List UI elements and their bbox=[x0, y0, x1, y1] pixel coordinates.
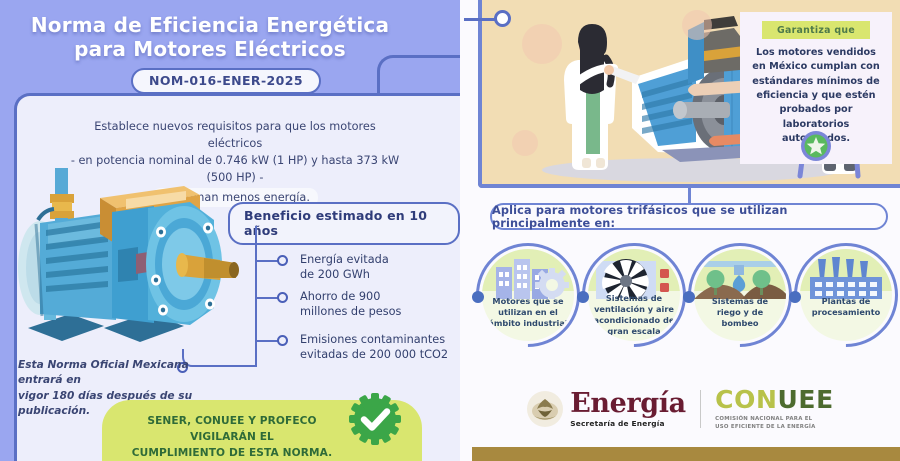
check-badge-icon bbox=[347, 391, 403, 447]
enforcement-line-2: CUMPLIMIENTO DE ESTA NORMA. bbox=[116, 446, 348, 461]
factory-gear-icon bbox=[482, 249, 574, 299]
benefit-item-2: Ahorro de 900 millones de pesos bbox=[300, 289, 401, 320]
mexican-coat-of-arms-icon bbox=[526, 390, 564, 428]
energia-logo: Energía Secretaría de Energía bbox=[570, 390, 685, 428]
footer-gold-strip bbox=[472, 447, 900, 461]
conuee-title: CONUEE bbox=[715, 387, 834, 412]
conuee-part-2: UEE bbox=[778, 385, 834, 414]
conuee-sub-line-2: USO EFICIENTE DE LA ENERGÍA bbox=[715, 423, 834, 431]
processing-plant-icon bbox=[800, 249, 892, 299]
conuee-sub-line-1: COMISIÓN NACIONAL PARA EL bbox=[715, 415, 834, 423]
guarantee-line-1: Los motores vendidos bbox=[749, 46, 883, 60]
application-content-3: Sistemas de riego y de bombeo bbox=[694, 249, 786, 341]
application-content-2: Sistemas de ventilación y aire acondicio… bbox=[588, 249, 680, 341]
application-connector-dot-3 bbox=[789, 291, 801, 303]
application-connector-dot-0 bbox=[472, 291, 484, 303]
application-2-line3: acondicionado de bbox=[592, 315, 676, 326]
applies-title: Aplica para motores trifásicos que se ut… bbox=[490, 203, 888, 230]
benefit-item-3: Emisiones contaminantes evitadas de 200 … bbox=[300, 332, 448, 363]
benefit-node-1 bbox=[277, 255, 288, 266]
fan-ventilation-icon bbox=[588, 249, 680, 299]
enforcement-banner-text: SENER, CONUEE Y PROFECO VIGILARÁN EL CUM… bbox=[116, 414, 348, 461]
electric-motor-icon bbox=[8, 168, 244, 368]
energia-title: Energía bbox=[570, 390, 685, 417]
decorative-blob bbox=[512, 130, 538, 156]
footer-logos: Energía Secretaría de Energía CONUEE COM… bbox=[460, 378, 900, 440]
hero-connector-dot bbox=[494, 10, 511, 27]
benefit-item-1: Energía evitada de 200 GWh bbox=[300, 252, 389, 283]
application-label-2: Sistemas de ventilación y aire acondicio… bbox=[592, 293, 676, 337]
conuee-logo: CONUEE COMISIÓN NACIONAL PARA EL USO EFI… bbox=[715, 387, 834, 431]
benefit-item-2-line2: millones de pesos bbox=[300, 304, 401, 319]
title-elbow-connector bbox=[377, 55, 460, 95]
application-item-2: Sistemas de ventilación y aire acondicio… bbox=[582, 243, 686, 347]
application-3-line1: Sistemas de bbox=[698, 296, 782, 307]
guarantee-line-4: eficiencia y que estén bbox=[749, 89, 883, 103]
guarantee-tab-label: Garantiza que bbox=[762, 21, 870, 39]
conuee-part-1: CON bbox=[715, 385, 777, 414]
application-2-line2: ventilación y aire bbox=[592, 304, 676, 315]
infographic-root: Norma de Eficiencia Energética para Moto… bbox=[0, 0, 900, 461]
applications-list: Motores que se utilizan en el ámbito ind… bbox=[472, 243, 900, 361]
benefit-tree-trunk bbox=[255, 226, 257, 366]
guarantee-line-2: en México cumplan con bbox=[749, 60, 883, 74]
application-connector-dot-1 bbox=[577, 291, 589, 303]
application-label-1: Motores que se utilizan en el ámbito ind… bbox=[486, 296, 570, 329]
title-line-2: para Motores Eléctricos bbox=[0, 38, 420, 62]
guarantee-line-3: estándares mínimos de bbox=[749, 75, 883, 89]
benefit-pill: Beneficio estimado en 10 años bbox=[228, 202, 460, 245]
conuee-subtitle: COMISIÓN NACIONAL PARA EL USO EFICIENTE … bbox=[715, 415, 834, 431]
logo-divider bbox=[700, 390, 702, 428]
enforcement-line-1: SENER, CONUEE Y PROFECO VIGILARÁN EL bbox=[116, 414, 348, 446]
title-line-1: Norma de Eficiencia Energética bbox=[0, 14, 420, 38]
application-3-line3: bombeo bbox=[698, 318, 782, 329]
application-item-3: Sistemas de riego y de bombeo bbox=[688, 243, 792, 347]
irrigation-sprinkler-icon bbox=[694, 249, 786, 299]
benefit-item-3-line2: evitadas de 200 000 tCO2 bbox=[300, 347, 448, 362]
decorative-blob bbox=[682, 10, 712, 40]
note-line-1: Esta Norma Oficial Mexicana entrará en bbox=[18, 358, 208, 389]
guarantee-card: Garantiza que Los motores vendidos en Mé… bbox=[740, 12, 892, 164]
application-content-4: Plantas de procesamiento bbox=[800, 249, 892, 341]
application-item-4: Plantas de procesamiento bbox=[794, 243, 898, 347]
application-1-line1: Motores que se bbox=[486, 296, 570, 307]
benefit-node-3 bbox=[277, 335, 288, 346]
application-1-line3: ámbito industrial bbox=[486, 318, 570, 329]
guarantee-line-5: probados por laboratorios bbox=[749, 103, 883, 132]
application-2-line4: gran escala bbox=[592, 326, 676, 337]
star-badge-icon bbox=[800, 130, 832, 162]
application-label-3: Sistemas de riego y de bombeo bbox=[698, 296, 782, 329]
benefit-item-3-line1: Emisiones contaminantes bbox=[300, 332, 448, 347]
benefit-item-1-line2: de 200 GWh bbox=[300, 267, 389, 282]
norm-code-badge: NOM-016-ENER-2025 bbox=[131, 68, 321, 94]
energia-subtitle: Secretaría de Energía bbox=[570, 419, 685, 428]
application-label-4: Plantas de procesamiento bbox=[804, 296, 888, 318]
description-line-1: Establece nuevos requisitos para que los… bbox=[70, 118, 400, 152]
benefit-item-1-line1: Energía evitada bbox=[300, 252, 389, 267]
decorative-blob bbox=[522, 24, 562, 64]
application-3-line2: riego y de bbox=[698, 307, 782, 318]
benefit-item-2-line1: Ahorro de 900 bbox=[300, 289, 401, 304]
enforcement-banner: SENER, CONUEE Y PROFECO VIGILARÁN EL CUM… bbox=[102, 400, 422, 461]
benefit-branch-2 bbox=[255, 297, 279, 299]
application-2-line1: Sistemas de bbox=[592, 293, 676, 304]
left-panel: Norma de Eficiencia Energética para Moto… bbox=[0, 0, 460, 461]
application-4-line2: procesamiento bbox=[804, 307, 888, 318]
application-connector-dot-2 bbox=[683, 291, 695, 303]
application-1-line2: utilizan en el bbox=[486, 307, 570, 318]
right-panel: Garantiza que Los motores vendidos en Mé… bbox=[460, 0, 900, 461]
application-item-1: Motores que se utilizan en el ámbito ind… bbox=[476, 243, 580, 347]
applies-stem-connector bbox=[688, 188, 691, 204]
application-4-line1: Plantas de bbox=[804, 296, 888, 307]
benefit-node-2 bbox=[277, 292, 288, 303]
benefit-branch-3 bbox=[255, 340, 279, 342]
hero-illustration-panel: Garantiza que Los motores vendidos en Mé… bbox=[478, 0, 900, 188]
benefit-branch-1 bbox=[255, 260, 279, 262]
page-title: Norma de Eficiencia Energética para Moto… bbox=[0, 14, 420, 61]
application-content-1: Motores que se utilizan en el ámbito ind… bbox=[482, 249, 574, 341]
